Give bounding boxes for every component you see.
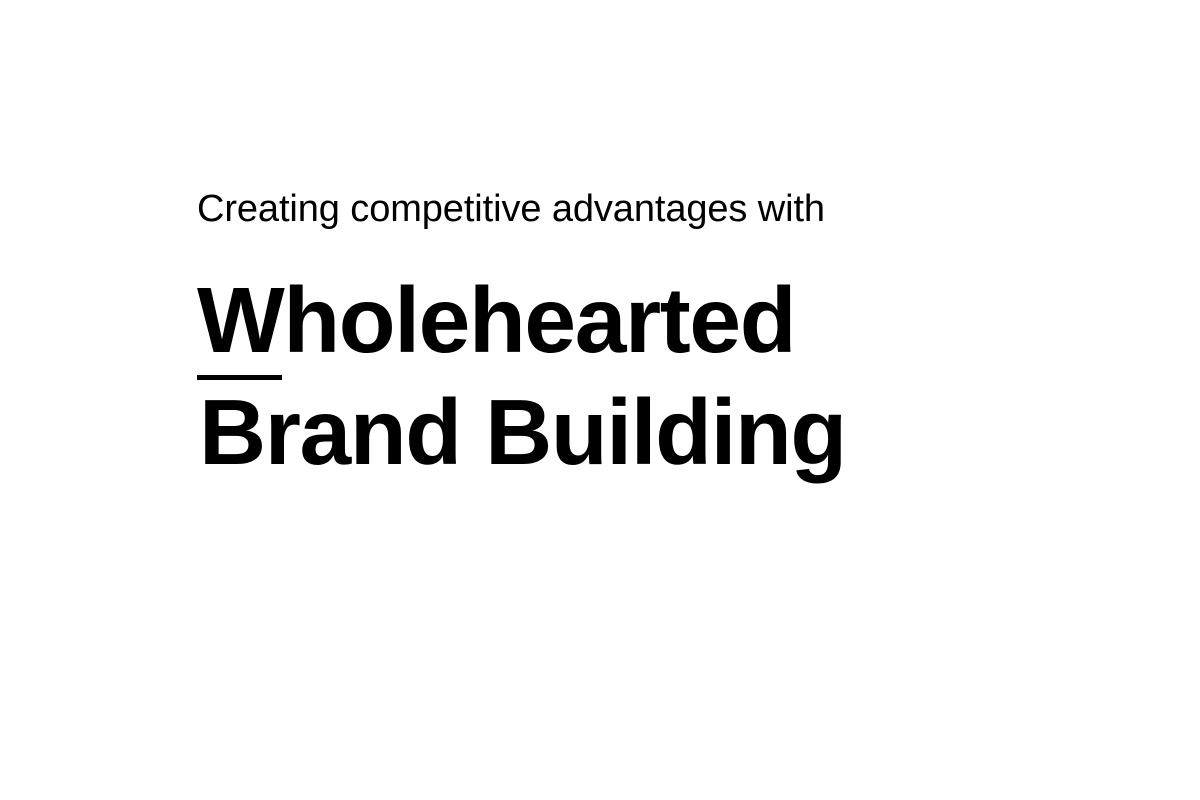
headline-underlined-initial: W [197, 268, 283, 372]
headline-line-1: Wholehearted [197, 265, 1097, 376]
eyebrow-text: Creating competitive advantages with [197, 185, 1097, 234]
title-block: Creating competitive advantages with Who… [197, 185, 1097, 488]
headline-line-2: Brand Building [197, 377, 1097, 488]
title-slide: Creating competitive advantages with Who… [0, 0, 1200, 800]
headline-line-1-rest: holehearted [283, 268, 795, 372]
